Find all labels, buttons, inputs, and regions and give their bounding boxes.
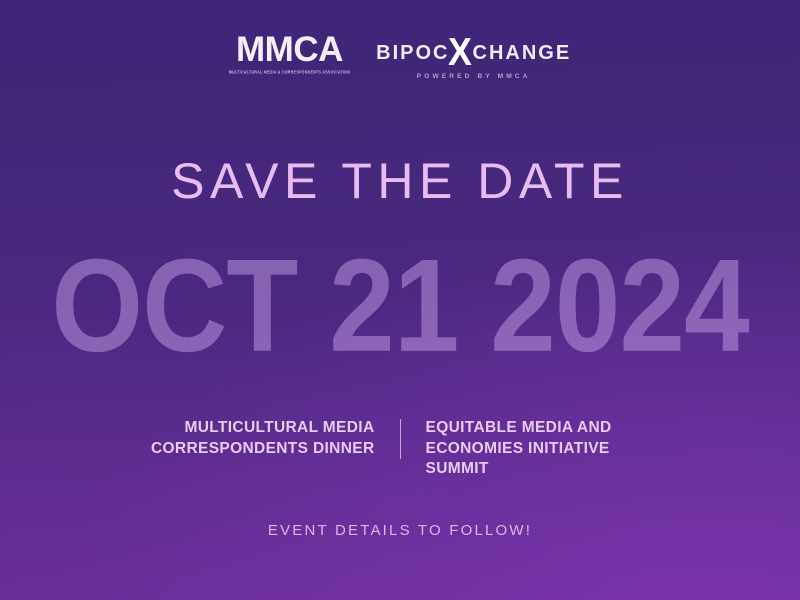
save-the-date-poster: MMCA MULTICULTURAL MEDIA & CORRESPONDENT…	[0, 0, 800, 600]
mmca-tagline: MULTICULTURAL MEDIA & CORRESPONDENTS ASS…	[229, 70, 350, 75]
bipoc-xchange-logo: BIPOC X CHANGE POWERED BY MMCA	[376, 32, 571, 80]
mmca-wordmark: MMCA	[236, 32, 343, 67]
footer-note: EVENT DETAILS TO FOLLOW!	[0, 522, 800, 539]
bipoc-xchange-x-icon: X	[449, 37, 473, 68]
event-name-summit: EQUITABLE MEDIA AND ECONOMIES INITIATIVE…	[401, 418, 676, 480]
bipoc-xchange-tagline: POWERED BY MMCA	[417, 73, 531, 80]
bipoc-xchange-wordmark: BIPOC X CHANGE	[376, 37, 571, 68]
event-date: OCT 21 2024	[0, 240, 800, 372]
event-list: MULTICULTURAL MEDIA CORRESPONDENTS DINNE…	[0, 418, 800, 480]
bipoc-xchange-prefix: BIPOC	[376, 43, 449, 63]
logo-bar: MMCA MULTICULTURAL MEDIA & CORRESPONDENT…	[0, 32, 800, 80]
bipoc-xchange-suffix: CHANGE	[473, 43, 572, 63]
save-the-date-headline: SAVE THE DATE	[0, 152, 800, 210]
event-name-dinner: MULTICULTURAL MEDIA CORRESPONDENTS DINNE…	[125, 418, 400, 459]
mmca-logo: MMCA MULTICULTURAL MEDIA & CORRESPONDENT…	[229, 32, 350, 74]
